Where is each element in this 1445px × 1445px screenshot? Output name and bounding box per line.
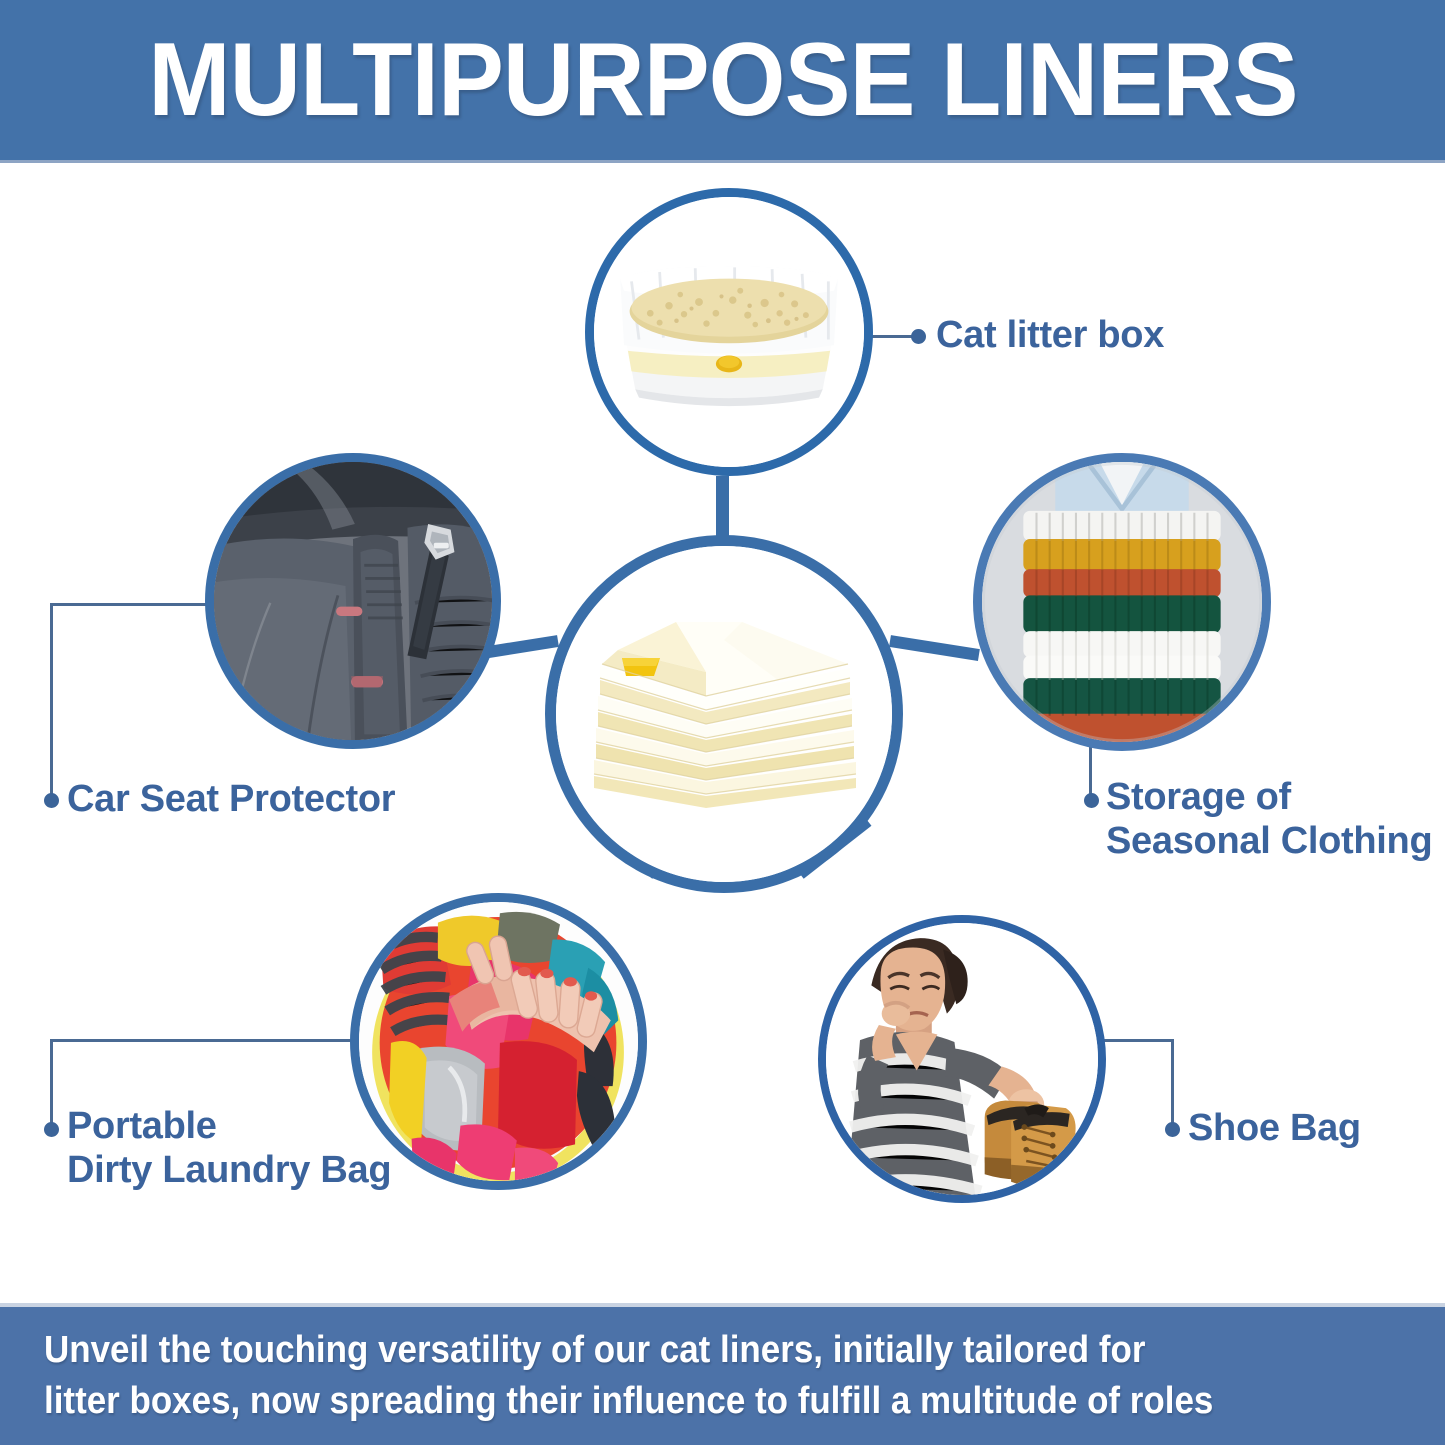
leader-dot-shoe (1165, 1122, 1180, 1137)
label-shoe-bag: Shoe Bag (1188, 1106, 1361, 1150)
page-title: MULTIPURPOSE LINERS (148, 28, 1297, 132)
footer-banner: Unveil the touching versatility of our c… (0, 1303, 1445, 1445)
spoke-center-to-car (486, 635, 559, 658)
leader-line-shoe-v (1171, 1039, 1174, 1129)
leader-line-shoe-h (1100, 1039, 1174, 1042)
shoe-bag-illustration (826, 923, 1098, 1195)
node-image-car-seat-protector[interactable] (205, 453, 501, 749)
leader-dot-laundry (44, 1122, 59, 1137)
node-image-liner-stack-center[interactable] (545, 535, 903, 893)
footer-text-line-1: Unveil the touching versatility of our c… (44, 1325, 1292, 1376)
leader-line-car-seat-v (50, 603, 53, 801)
header-banner: MULTIPURPOSE LINERS (0, 0, 1445, 163)
node-image-storage-of-seasonal-clothing[interactable] (973, 453, 1271, 751)
spoke-center-to-litter (716, 476, 729, 541)
label-storage-of-seasonal-clothing: Storage of Seasonal Clothing (1106, 775, 1432, 864)
label-line: Seasonal Clothing (1106, 819, 1432, 863)
label-portable-dirty-laundry-bag: Portable Dirty Laundry Bag (67, 1104, 391, 1193)
cat-litter-box-illustration (594, 197, 864, 467)
label-line: Dirty Laundry Bag (67, 1148, 391, 1192)
diagram-canvas: Cat litter box Car Seat Protector Storag… (0, 163, 1445, 1303)
node-image-portable-dirty-laundry-bag[interactable] (350, 893, 647, 1190)
label-line: Shoe Bag (1188, 1106, 1361, 1150)
label-line: Car Seat Protector (67, 777, 395, 821)
leader-dot-car-seat (44, 793, 59, 808)
leader-line-laundry-v (50, 1039, 53, 1129)
node-image-shoe-bag[interactable] (818, 915, 1106, 1203)
leader-dot-cat-litter-box (911, 329, 926, 344)
dirty-laundry-illustration (359, 902, 638, 1181)
infographic-page: MULTIPURPOSE LINERS (0, 0, 1445, 1445)
liner-stack-illustration (556, 546, 892, 882)
leader-dot-clothing (1084, 793, 1099, 808)
footer-text-line-2: litter boxes, now spreading their influe… (44, 1376, 1292, 1427)
leader-line-laundry-h (50, 1039, 360, 1042)
spoke-center-to-clothes (889, 635, 980, 661)
label-car-seat-protector: Car Seat Protector (67, 777, 395, 821)
leader-line-car-seat-h (50, 603, 210, 606)
sweater-stack-illustration (982, 462, 1262, 742)
label-line: Portable (67, 1104, 391, 1148)
node-image-cat-litter-box[interactable] (585, 188, 873, 476)
label-line: Storage of (1106, 775, 1432, 819)
label-line: Cat litter box (936, 313, 1164, 357)
label-cat-litter-box: Cat litter box (936, 313, 1164, 357)
car-seat-illustration (214, 462, 492, 740)
